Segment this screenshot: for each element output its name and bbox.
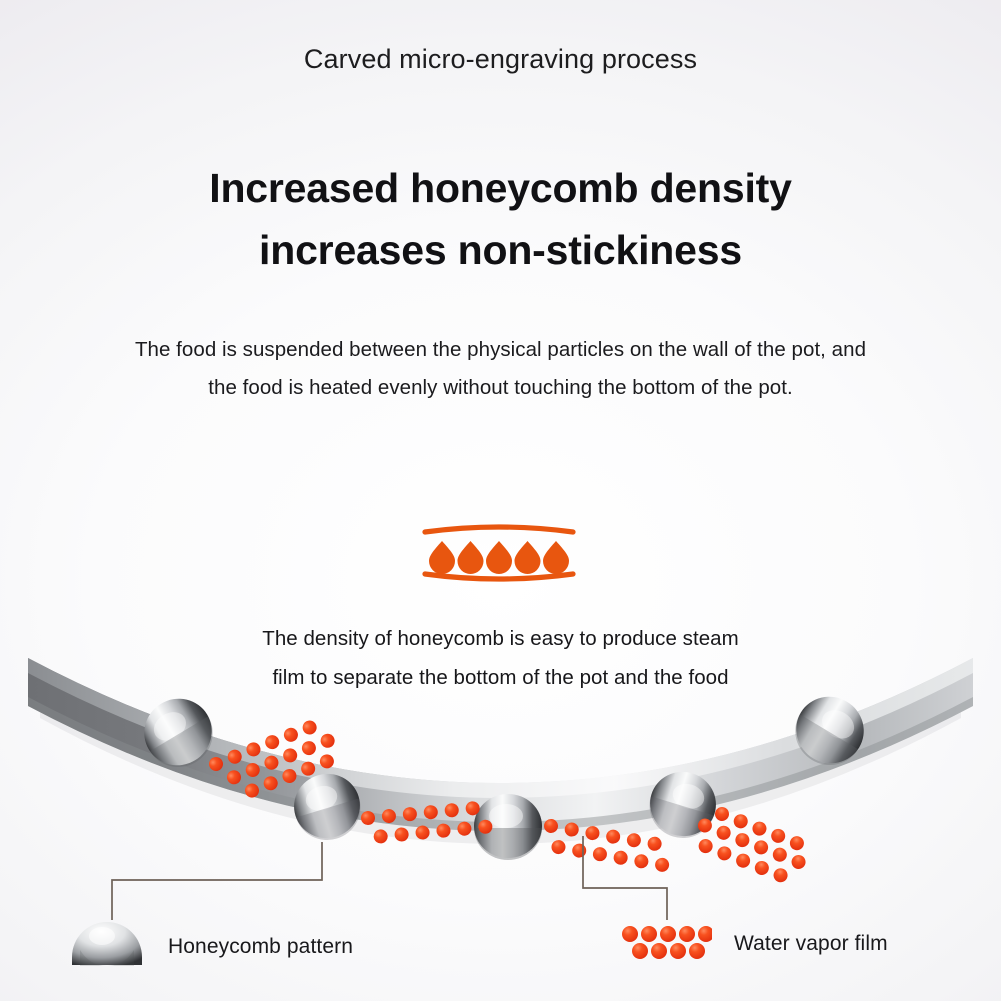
headline-line-2: increases non-stickiness <box>0 220 1001 282</box>
headline-line-1: Increased honeycomb density <box>0 158 1001 220</box>
lede-line-1: The food is suspended between the physic… <box>70 331 931 369</box>
lede-paragraph: The food is suspended between the physic… <box>70 331 931 407</box>
red-dot-cluster-icon <box>620 920 712 967</box>
leader-line-honeycomb <box>112 842 322 920</box>
eyebrow-title: Carved micro-engraving process <box>0 44 1001 75</box>
legend-label-water-vapor: Water vapor film <box>734 932 888 956</box>
metal-dome-icon <box>70 920 144 973</box>
lede-line-2: the food is heated evenly without touchi… <box>70 369 931 407</box>
pot-cross-section <box>0 640 1001 920</box>
legend-honeycomb-pattern: Honeycomb pattern <box>70 920 353 973</box>
heat-flames-icon <box>421 521 577 585</box>
legend-label-honeycomb: Honeycomb pattern <box>168 935 353 959</box>
infographic-poster: Carved micro-engraving process Increased… <box>0 0 1001 1001</box>
page-title: Increased honeycomb density increases no… <box>0 158 1001 281</box>
legend-water-vapor-film: Water vapor film <box>620 920 888 967</box>
